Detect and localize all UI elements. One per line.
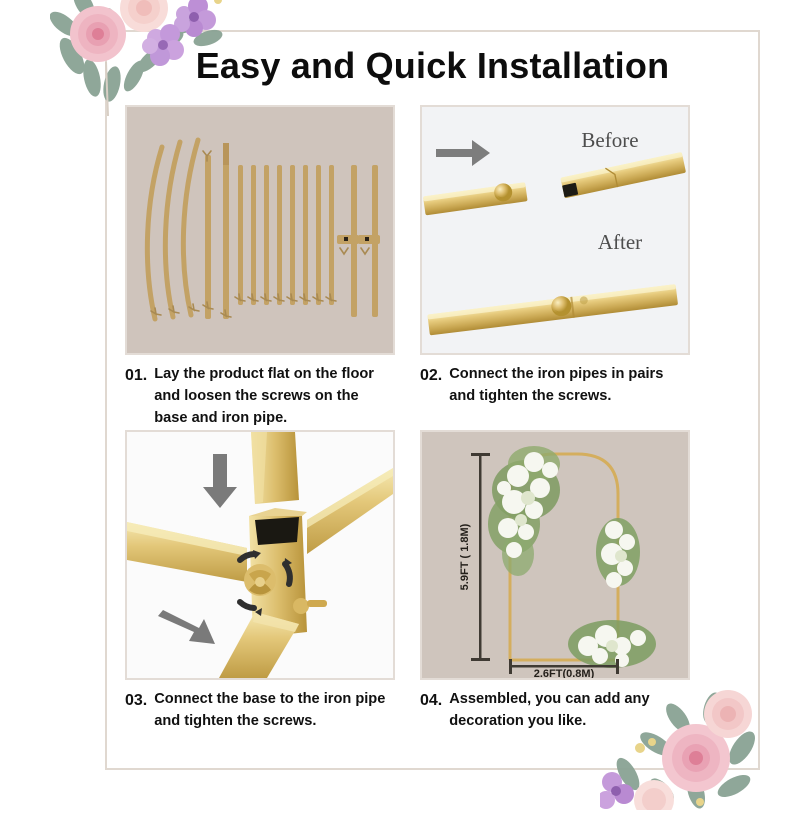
step-04-number: 04.: [420, 689, 442, 713]
after-label: After: [598, 230, 642, 254]
rose-blush: [120, 0, 168, 32]
poster-page: Easy and Quick Installation: [0, 0, 800, 800]
step-03-caption: 03. Connect the base to the iron pipe an…: [125, 689, 395, 733]
thumb-screw: [244, 564, 276, 596]
base-to-pipe-connection-image: [125, 430, 395, 680]
rose-blush-lower: [634, 780, 674, 810]
base-connector-svg: [127, 432, 393, 678]
floral-cluster-bottom: [568, 620, 656, 668]
small-yellow-buds: [133, 0, 222, 4]
before-after-svg: Before After: [422, 107, 688, 353]
step-01-number: 01.: [125, 364, 147, 388]
height-dimension-label: 5.9FT ( 1.8M): [459, 523, 471, 590]
width-dimension-label: 2.6FT(0.8M): [534, 668, 595, 678]
pipes-flatlay-svg: [127, 107, 393, 353]
step-02-text: Connect the iron pipes in pairs and tigh…: [449, 364, 690, 408]
step-03-text: Connect the base to the iron pipe and ti…: [154, 689, 395, 733]
vertical-pipe: [251, 432, 299, 504]
step-02-number: 02.: [420, 364, 442, 388]
assembled-arch-with-flowers-image: 5.9FT ( 1.8M) 2.6FT(0.8M): [420, 430, 690, 680]
arch-dimensions-svg: 5.9FT ( 1.8M) 2.6FT(0.8M): [422, 432, 688, 678]
step-01: 01. Lay the product flat on the floor an…: [125, 105, 395, 430]
steps-grid: 01. Lay the product flat on the floor an…: [125, 105, 690, 750]
rose-blush-upper: [704, 690, 752, 738]
pipe-connection-before-after-image: Before After: [420, 105, 690, 355]
flat-lay-of-pipes-image: [125, 105, 395, 355]
step-03: 03. Connect the base to the iron pipe an…: [125, 430, 395, 733]
step-03-number: 03.: [125, 689, 147, 713]
flower-purple-upper: [174, 0, 216, 37]
before-label: Before: [581, 128, 638, 152]
flower-purple: [600, 772, 634, 809]
step-04-caption: 04. Assembled, you can add any decoratio…: [420, 689, 690, 733]
page-title: Easy and Quick Installation: [105, 45, 760, 87]
step-02-caption: 02. Connect the iron pipes in pairs and …: [420, 364, 690, 408]
step-04: 5.9FT ( 1.8M) 2.6FT(0.8M) 04. Assembled,…: [420, 430, 690, 733]
step-04-text: Assembled, you can add any decoration yo…: [449, 689, 690, 733]
step-01-text: Lay the product flat on the floor and lo…: [154, 364, 395, 430]
step-02: Before After 02. Connect the iron pipes: [420, 105, 690, 408]
step-01-caption: 01. Lay the product flat on the floor an…: [125, 364, 395, 430]
